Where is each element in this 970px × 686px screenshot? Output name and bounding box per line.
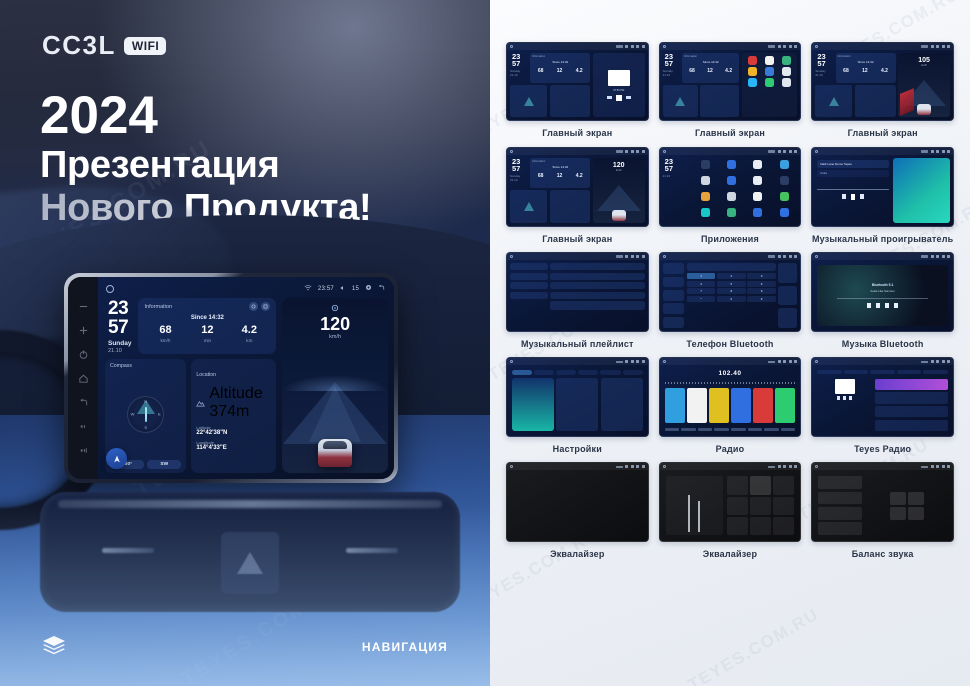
back-arrow-icon bbox=[794, 360, 797, 363]
driving-speed-pane[interactable]: 120 km/h bbox=[282, 298, 388, 473]
latitude-row: Latitude 22°42'38"N bbox=[196, 425, 271, 437]
thumbnail-content: 2357 Sunday21.10 Information Since 14:32… bbox=[812, 50, 953, 120]
time-icon bbox=[778, 360, 781, 363]
road-lane bbox=[309, 386, 361, 442]
home-indicator-icon[interactable] bbox=[106, 285, 114, 293]
thumbnail-content: 2357 Sunday21.10 Information Since 14:32… bbox=[507, 155, 648, 225]
time-icon bbox=[931, 255, 934, 258]
volume-icon bbox=[783, 465, 786, 468]
back-arrow-icon[interactable] bbox=[378, 284, 385, 293]
compass-dial: N E S W bbox=[127, 396, 164, 433]
screen-thumbnail[interactable]: Dark Lane Demo Tapes Drake bbox=[811, 147, 954, 226]
thumbnail-status-bar bbox=[812, 463, 953, 470]
compass-south-label: S bbox=[144, 425, 147, 430]
gallery-item-caption: Музыкальный плейлист bbox=[521, 339, 634, 350]
gallery-item-caption: Главный экран bbox=[542, 234, 612, 245]
gallery-item[interactable]: 2357 Sunday21.10 Information Since 14:32… bbox=[506, 147, 649, 244]
thumbnail-content: 2357 Sunday21.10 Information Since 14:32… bbox=[660, 50, 801, 120]
time-icon bbox=[931, 150, 934, 153]
volume-icon bbox=[936, 465, 939, 468]
gear-icon bbox=[942, 150, 945, 153]
gallery-item[interactable]: 2357 Sunday21.10 Information Since 14:32… bbox=[659, 42, 802, 139]
gear-icon bbox=[942, 360, 945, 363]
back-arrow-icon bbox=[947, 465, 950, 468]
clock-minutes: 57 bbox=[108, 319, 131, 338]
gallery-item-caption: Главный экран bbox=[695, 128, 765, 139]
thumbnail-status-bar bbox=[660, 253, 801, 260]
metric-value: 4.2 bbox=[228, 325, 270, 336]
thumbnail-content bbox=[507, 470, 648, 540]
status-bar: 23:57 15 bbox=[105, 282, 388, 295]
time-icon bbox=[931, 45, 934, 48]
speed-unit: km/h bbox=[282, 334, 388, 340]
wifi-icon bbox=[768, 361, 775, 364]
clock-widget[interactable]: 23 57 Sunday 21.10 bbox=[105, 298, 131, 354]
metric-unit: min bbox=[186, 338, 228, 343]
status-time: 23:57 bbox=[318, 286, 334, 292]
power-icon[interactable] bbox=[78, 349, 89, 360]
volume-icon bbox=[936, 255, 939, 258]
information-title: Information bbox=[144, 304, 172, 310]
screen-thumbnail[interactable] bbox=[659, 462, 802, 541]
clock-hours: 23 bbox=[108, 300, 131, 319]
status-volume: 15 bbox=[352, 286, 359, 292]
presentation-page: TEYES.COM.RU TEYES.COM.RU TEYES.COM.RU C… bbox=[0, 0, 970, 686]
thumbnail-status-bar bbox=[660, 148, 801, 155]
compass-title: Compass bbox=[110, 363, 181, 369]
screen-thumbnail[interactable] bbox=[506, 357, 649, 436]
wifi-icon bbox=[768, 255, 775, 258]
back-arrow-icon bbox=[947, 45, 950, 48]
gear-icon bbox=[789, 465, 792, 468]
time-icon bbox=[625, 150, 628, 153]
gallery-item-caption: Приложения bbox=[701, 234, 759, 245]
gallery-item[interactable]: Баланс звука bbox=[811, 462, 954, 559]
gallery-item-caption: Главный экран bbox=[848, 128, 918, 139]
gallery-item[interactable]: 2357 Sunday21.10 Information Since 14:32… bbox=[506, 42, 649, 139]
time-icon bbox=[931, 360, 934, 363]
clock-date: 21.10 bbox=[108, 348, 131, 354]
soft-key-strip[interactable] bbox=[68, 277, 98, 479]
speed-value: 120 bbox=[282, 315, 388, 333]
gallery-item[interactable]: Эквалайзер bbox=[659, 462, 802, 559]
home-indicator-icon bbox=[663, 465, 666, 468]
thumbnail-status-bar bbox=[507, 358, 648, 365]
volume-icon bbox=[340, 285, 346, 293]
volume-icon bbox=[783, 360, 786, 363]
compass-direction: SW bbox=[147, 460, 181, 469]
screen-thumbnail[interactable] bbox=[811, 357, 954, 436]
latitude-value: 22°42'38"N bbox=[196, 430, 271, 436]
screen-thumbnail[interactable]: Bluetooth 5.1 Feels Like Summer bbox=[811, 252, 954, 331]
wifi-icon bbox=[616, 466, 623, 469]
thumbnail-status-bar bbox=[507, 148, 648, 155]
home-left-pane: 23 57 Sunday 21.10 Information bbox=[105, 298, 276, 473]
gear-icon bbox=[636, 360, 639, 363]
compass-west-label: W bbox=[131, 412, 135, 417]
gallery-item[interactable]: Dark Lane Demo Tapes Drake Музыкальный п… bbox=[811, 147, 954, 244]
volume-icon bbox=[936, 45, 939, 48]
gallery-item[interactable]: Эквалайзер bbox=[506, 462, 649, 559]
home-indicator-icon bbox=[663, 150, 666, 153]
thumbnail-status-bar bbox=[812, 253, 953, 260]
back-arrow-icon bbox=[642, 360, 645, 363]
wifi-icon bbox=[921, 361, 928, 364]
gear-icon bbox=[789, 255, 792, 258]
time-icon bbox=[625, 45, 628, 48]
expand-icon[interactable] bbox=[261, 302, 270, 311]
thumbnail-content: 2357 Sunday21.10 Information Since 14:32… bbox=[507, 50, 648, 120]
gallery-item[interactable]: 102.40 Радио bbox=[659, 357, 802, 454]
back-arrow-icon bbox=[947, 255, 950, 258]
time-icon bbox=[931, 465, 934, 468]
thumbnail-content bbox=[507, 260, 648, 330]
thumbnail-content bbox=[812, 470, 953, 540]
time-icon bbox=[778, 465, 781, 468]
gear-icon bbox=[789, 150, 792, 153]
home-indicator-icon bbox=[510, 255, 513, 258]
gallery-item-caption: Teyes Радио bbox=[854, 444, 911, 455]
compass-north-label: N bbox=[144, 399, 147, 404]
gallery-item[interactable]: Bluetooth 5.1 Feels Like Summer Музыка B… bbox=[811, 252, 954, 349]
home-indicator-icon bbox=[663, 255, 666, 258]
screen-thumbnail[interactable]: 2357 Sunday21.10 Information Since 14:32… bbox=[506, 42, 649, 121]
volume-icon bbox=[631, 465, 634, 468]
gear-icon bbox=[636, 255, 639, 258]
altitude-label: Altitude bbox=[209, 385, 262, 403]
head-unit: 23:57 15 bbox=[64, 273, 398, 483]
time-icon bbox=[778, 150, 781, 153]
gallery-item-caption: Музыка Bluetooth bbox=[842, 339, 924, 350]
time-icon bbox=[625, 255, 628, 258]
minus-icon[interactable] bbox=[78, 301, 89, 312]
home-indicator-icon bbox=[510, 45, 513, 48]
gallery-item-caption: Радио bbox=[716, 444, 745, 455]
back-arrow-icon bbox=[642, 465, 645, 468]
volume-icon bbox=[783, 150, 786, 153]
gear-icon bbox=[942, 465, 945, 468]
trip-metric: 68 km/h bbox=[144, 325, 186, 343]
volume-up-icon[interactable] bbox=[78, 445, 89, 456]
trip-metrics: 68 km/h 12 min bbox=[144, 325, 270, 343]
volume-down-icon[interactable] bbox=[78, 421, 89, 432]
wifi-icon bbox=[768, 466, 775, 469]
refresh-icon[interactable] bbox=[249, 302, 258, 311]
home-indicator-icon bbox=[815, 150, 818, 153]
gear-icon bbox=[636, 150, 639, 153]
screen-thumbnail[interactable] bbox=[506, 252, 649, 331]
wifi-icon bbox=[921, 255, 928, 258]
location-title: Location bbox=[196, 372, 216, 378]
thumbnail-status-bar bbox=[812, 43, 953, 50]
gear-icon bbox=[636, 45, 639, 48]
time-icon bbox=[778, 255, 781, 258]
volume-icon bbox=[631, 150, 634, 153]
gallery-item-caption: Настройки bbox=[553, 444, 602, 455]
home-indicator-icon bbox=[510, 465, 513, 468]
wifi-icon bbox=[921, 45, 928, 48]
thumbnail-content: 123456789*0# bbox=[660, 260, 801, 330]
back-arrow-icon bbox=[794, 465, 797, 468]
trip-since-label: Since 14:32 bbox=[144, 315, 270, 321]
gear-icon bbox=[942, 45, 945, 48]
thumbnail-content bbox=[660, 470, 801, 540]
longitude-value: 114°4'33"E bbox=[196, 445, 271, 451]
time-icon bbox=[625, 465, 628, 468]
wifi-icon bbox=[921, 150, 928, 153]
metric-unit: km bbox=[228, 338, 270, 343]
thumbnail-status-bar bbox=[507, 253, 648, 260]
screen-thumbnail[interactable] bbox=[811, 462, 954, 541]
home-indicator-icon bbox=[510, 150, 513, 153]
time-icon bbox=[625, 360, 628, 363]
back-arrow-icon bbox=[947, 360, 950, 363]
screen-thumbnail[interactable]: 2357 21.10 bbox=[659, 147, 802, 226]
gallery-item-caption: Главный экран bbox=[542, 128, 612, 139]
wifi-icon bbox=[921, 466, 928, 469]
wifi-icon bbox=[768, 150, 775, 153]
screenshot-gallery: TEYES.COM.RU TEYES.COM.RU TEYES.COM.RU T… bbox=[490, 0, 970, 686]
back-arrow-icon bbox=[642, 45, 645, 48]
home-indicator-icon bbox=[815, 45, 818, 48]
home-indicator-icon bbox=[663, 360, 666, 363]
gallery-item[interactable]: Музыкальный плейлист bbox=[506, 252, 649, 349]
volume-icon bbox=[783, 45, 786, 48]
car-3d-model bbox=[318, 439, 352, 467]
gallery-item-caption: Телефон Bluetooth bbox=[686, 339, 773, 350]
volume-icon bbox=[936, 360, 939, 363]
thumbnail-content: 102.40 bbox=[660, 365, 801, 435]
hero-panel: TEYES.COM.RU TEYES.COM.RU TEYES.COM.RU C… bbox=[0, 0, 490, 686]
metric-unit: km/h bbox=[144, 338, 186, 343]
metric-value: 68 bbox=[144, 325, 186, 336]
longitude-label: Longitude bbox=[196, 440, 271, 445]
screen-thumbnail[interactable]: 123456789*0# bbox=[659, 252, 802, 331]
home-indicator-icon bbox=[663, 45, 666, 48]
volume-icon bbox=[936, 150, 939, 153]
wifi-icon bbox=[304, 284, 312, 293]
wifi-icon bbox=[616, 150, 623, 153]
thumbnail-status-bar bbox=[660, 463, 801, 470]
car-interior-photo: 23:57 15 bbox=[0, 0, 490, 686]
navigation-label: НАВИГАЦИЯ bbox=[362, 640, 448, 654]
gear-icon[interactable] bbox=[365, 284, 372, 293]
gear-icon bbox=[789, 360, 792, 363]
thumbnail-status-bar bbox=[660, 43, 801, 50]
trip-metric: 12 min bbox=[186, 325, 228, 343]
back-arrow-icon bbox=[794, 255, 797, 258]
home-indicator-icon bbox=[510, 360, 513, 363]
wifi-icon bbox=[616, 45, 623, 48]
gear-icon bbox=[636, 465, 639, 468]
gallery-item-caption: Эквалайзер bbox=[550, 549, 604, 560]
thumbnail-status-bar bbox=[507, 43, 648, 50]
information-card[interactable]: Information bbox=[138, 298, 276, 354]
thumbnail-content bbox=[507, 365, 648, 435]
gallery-item[interactable]: 2357 Sunday21.10 Information Since 14:32… bbox=[811, 42, 954, 139]
wifi-icon bbox=[616, 255, 623, 258]
back-arrow-icon bbox=[642, 255, 645, 258]
gallery-item-caption: Баланс звука bbox=[852, 549, 914, 560]
home-indicator-icon bbox=[815, 255, 818, 258]
time-icon bbox=[778, 45, 781, 48]
location-card[interactable]: Location Altitude 374m bbox=[191, 359, 276, 473]
home-indicator-icon bbox=[815, 360, 818, 363]
watermark: TEYES.COM.RU bbox=[685, 604, 823, 686]
screen-thumbnail[interactable]: 2357 Sunday21.10 Information Since 14:32… bbox=[659, 42, 802, 121]
navigation-arrow-icon[interactable] bbox=[106, 448, 127, 469]
back-arrow-icon[interactable] bbox=[78, 397, 89, 408]
screen-thumbnail[interactable]: 102.40 bbox=[659, 357, 802, 436]
gallery-item-caption: Эквалайзер bbox=[703, 549, 757, 560]
thumbnail-status-bar bbox=[507, 463, 648, 470]
cruise-icon bbox=[282, 304, 388, 314]
thumbnail-status-bar bbox=[812, 358, 953, 365]
head-unit-screen[interactable]: 23:57 15 bbox=[98, 277, 394, 479]
thumbnail-status-bar bbox=[660, 358, 801, 365]
thumbnail-content: Dark Lane Demo Tapes Drake bbox=[812, 155, 953, 225]
longitude-row: Longitude 114°4'33"E bbox=[196, 440, 271, 452]
gear-icon bbox=[789, 45, 792, 48]
home-indicator-icon bbox=[815, 465, 818, 468]
screen-thumbnail[interactable]: 2357 Sunday21.10 Information Since 14:32… bbox=[811, 42, 954, 121]
compass-east-label: E bbox=[158, 412, 161, 417]
volume-icon bbox=[631, 360, 634, 363]
altitude-value: 374m bbox=[209, 403, 262, 421]
thumbnail-content: Bluetooth 5.1 Feels Like Summer bbox=[812, 260, 953, 330]
clock-day: Sunday bbox=[108, 340, 131, 347]
gear-icon bbox=[942, 255, 945, 258]
volume-icon bbox=[783, 255, 786, 258]
gallery-item[interactable]: Teyes Радио bbox=[811, 357, 954, 454]
hero-footer: НАВИГАЦИЯ bbox=[0, 632, 490, 662]
wifi-icon bbox=[768, 45, 775, 48]
thumbnail-status-bar bbox=[812, 148, 953, 155]
back-arrow-icon bbox=[794, 45, 797, 48]
screen-thumbnail[interactable]: 2357 Sunday21.10 Information Since 14:32… bbox=[506, 147, 649, 226]
metric-value: 12 bbox=[186, 325, 228, 336]
plus-icon[interactable] bbox=[78, 325, 89, 336]
gallery-item[interactable]: 2357 21.10 Приложения bbox=[659, 147, 802, 244]
gallery-item-caption: Музыкальный проигрыватель bbox=[812, 234, 953, 245]
thumbnail-content: 2357 21.10 bbox=[660, 155, 801, 225]
screen-thumbnail[interactable] bbox=[506, 462, 649, 541]
gallery-item[interactable]: Настройки bbox=[506, 357, 649, 454]
thumbnail-content bbox=[812, 365, 953, 435]
volume-icon bbox=[631, 45, 634, 48]
home-icon[interactable] bbox=[78, 373, 89, 384]
volume-icon bbox=[631, 255, 634, 258]
mountain-icon bbox=[196, 394, 205, 412]
back-arrow-icon bbox=[947, 150, 950, 153]
back-arrow-icon bbox=[794, 150, 797, 153]
layers-icon[interactable] bbox=[42, 635, 66, 660]
wifi-icon bbox=[616, 361, 623, 364]
back-arrow-icon bbox=[642, 150, 645, 153]
gallery-item[interactable]: 123456789*0# Телефон Bluetooth bbox=[659, 252, 802, 349]
trip-metric: 4.2 km bbox=[228, 325, 270, 343]
latitude-label: Latitude bbox=[196, 425, 271, 430]
gallery-grid: 2357 Sunday21.10 Information Since 14:32… bbox=[506, 42, 954, 559]
